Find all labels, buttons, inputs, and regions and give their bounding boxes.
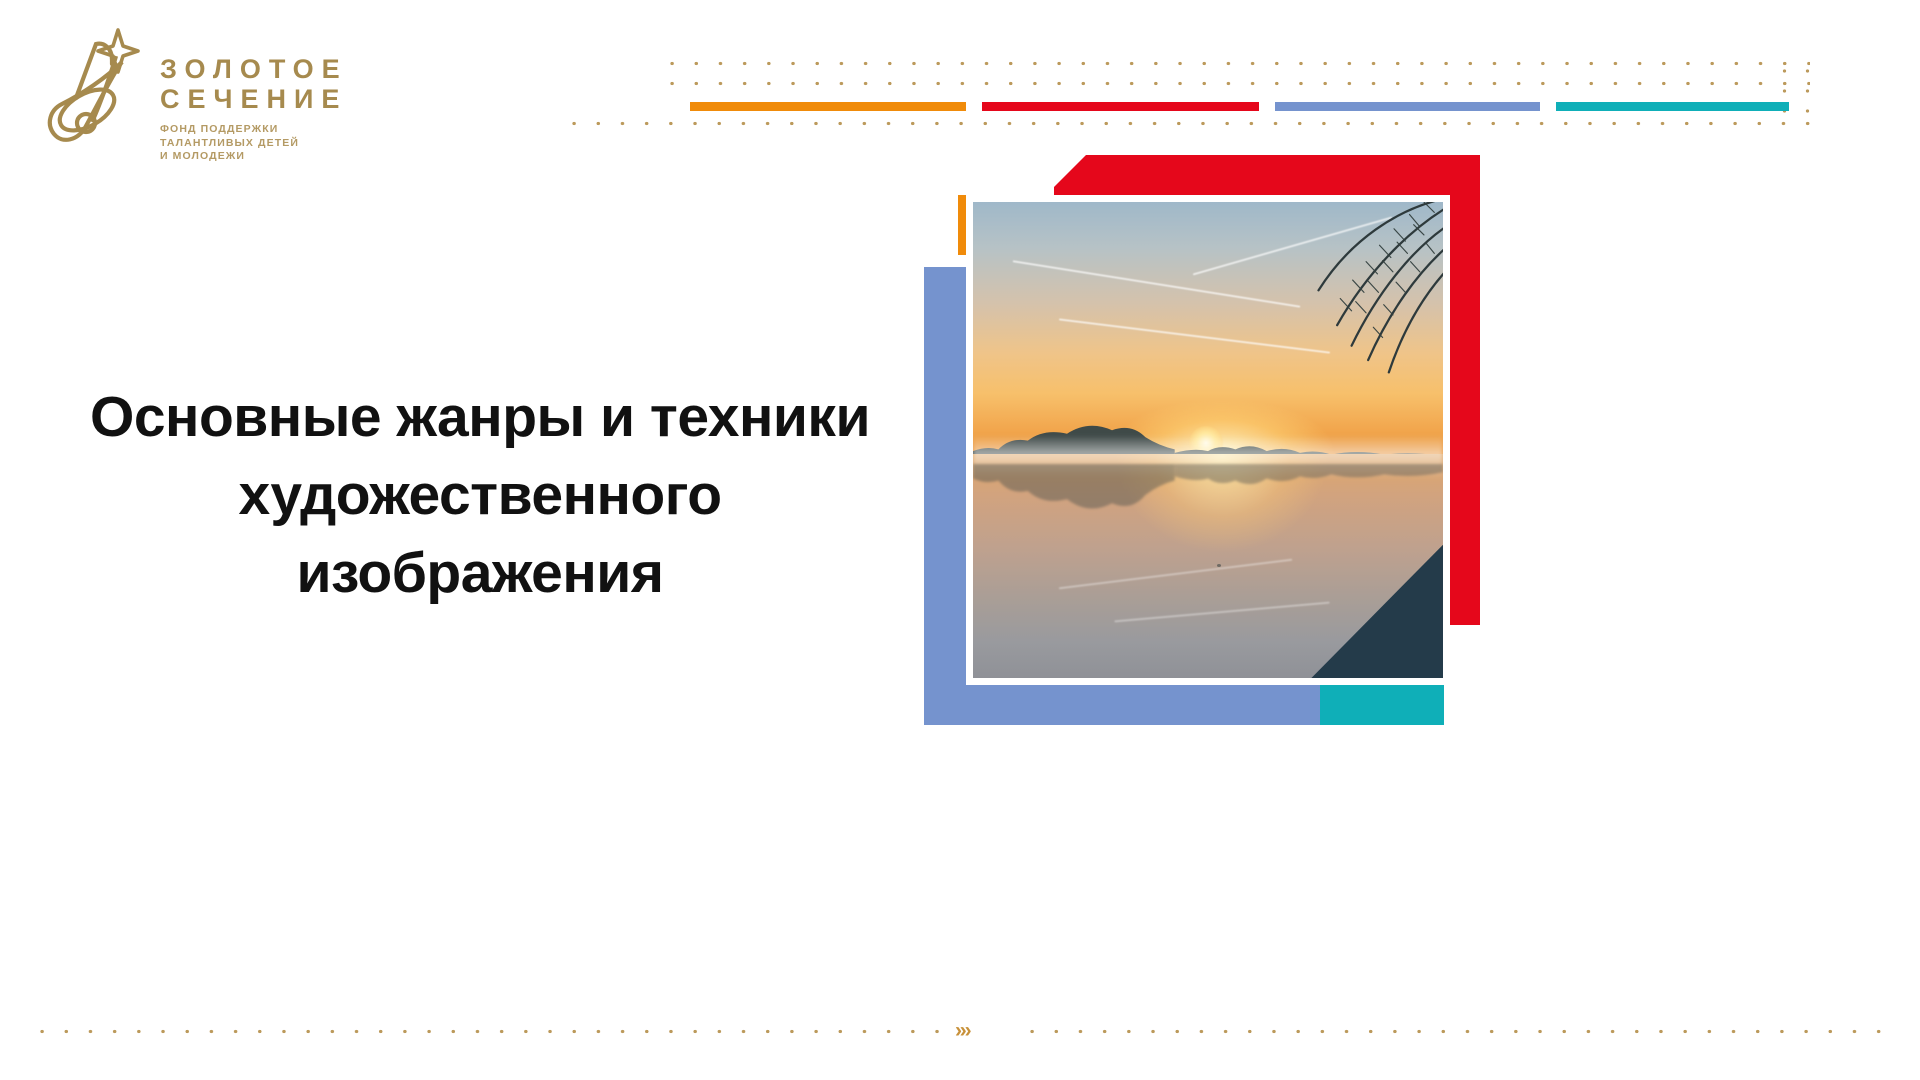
accent-bar-orange xyxy=(690,102,966,111)
logo-subtitle-line3: И МОЛОДЕЖИ xyxy=(160,150,348,164)
photo-treeline-reflection xyxy=(973,464,1443,526)
dot-pattern-col-2 xyxy=(1805,61,1810,123)
footer-dot-pattern-left xyxy=(30,1029,940,1034)
footer-decoration: »› xyxy=(0,1014,1920,1050)
slide-title-line-2: художественного xyxy=(60,456,900,534)
header-decoration xyxy=(660,50,1810,140)
logo-subtitle-line2: ТАЛАНТЛИВЫХ ДЕТЕЙ xyxy=(160,137,348,151)
photo-palm-fronds xyxy=(1242,202,1443,463)
footer-dot-pattern-right xyxy=(1020,1029,1900,1034)
chevron-forward-icon: »› xyxy=(955,1021,970,1041)
slide-title-line-1: Основные жанры и техники xyxy=(60,378,900,456)
slide-title: Основные жанры и техники художественного… xyxy=(60,378,900,612)
logo-wordmark: ЗОЛОТОЕ СЕЧЕНИЕ ФОНД ПОДДЕРЖКИ ТАЛАНТЛИВ… xyxy=(160,54,348,164)
accent-bar-blue xyxy=(1275,102,1540,111)
logo-name-line2: СЕЧЕНИЕ xyxy=(160,84,348,114)
dot-pattern-col-1 xyxy=(1782,61,1787,123)
logo-subtitle-line1: ФОНД ПОДДЕРЖКИ xyxy=(160,123,348,137)
slide-title-line-3: изображения xyxy=(60,534,900,612)
pen-and-star-icon xyxy=(42,26,150,158)
dot-pattern-row-1 xyxy=(660,61,1810,66)
accent-bar-red xyxy=(982,102,1259,111)
photo-composition xyxy=(920,155,1480,725)
dot-pattern-row-3 xyxy=(562,121,1810,126)
brand-logo[interactable]: ЗОЛОТОЕ СЕЧЕНИЕ ФОНД ПОДДЕРЖКИ ТАЛАНТЛИВ… xyxy=(42,18,342,168)
logo-name-line1: ЗОЛОТОЕ xyxy=(160,54,348,84)
accent-bar-teal xyxy=(1556,102,1789,111)
slide: ЗОЛОТОЕ СЕЧЕНИЕ ФОНД ПОДДЕРЖКИ ТАЛАНТЛИВ… xyxy=(0,0,1920,1080)
photo-image xyxy=(966,195,1450,685)
dot-pattern-row-2 xyxy=(660,81,1810,86)
